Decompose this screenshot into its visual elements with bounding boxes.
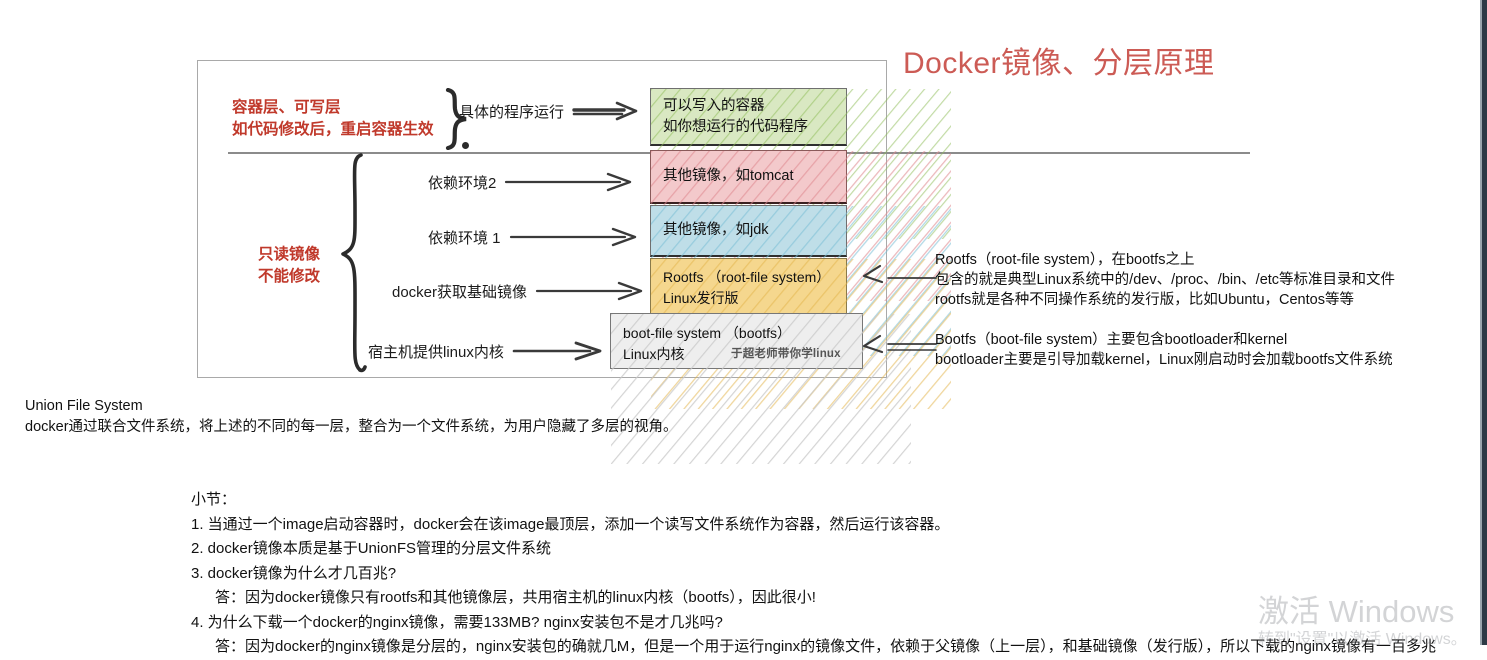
- arrow-row-dependency-2: 依赖环境2: [428, 171, 634, 193]
- annotation-rootfs-line1: Rootfs（root-file system），在bootfs之上: [935, 252, 1194, 268]
- annotation-rootfs-line3: rootfs就是各种不同操作系统的发行版，比如Ubuntu，Centos等等: [935, 292, 1354, 308]
- label-readonly-image: 只读镜像 不能修改: [258, 244, 320, 288]
- arrow-row-dependency-1: 依赖环境 1: [428, 226, 639, 248]
- label-container-layer: 容器层、可写层 如代码修改后，重启容器生效: [232, 97, 434, 141]
- union-file-system-body: docker通过联合文件系统，将上述的不同的每一层，整合为一个文件系统，为用户隐…: [25, 419, 678, 435]
- arrow-label-dependency-1: 依赖环境 1: [428, 227, 501, 248]
- annotation-bootfs: Bootfs（boot-file system）主要包含bootloader和k…: [935, 330, 1393, 370]
- arrow-icon: [572, 101, 640, 121]
- summary-item: 2. docker镜像本质是基于UnionFS管理的分层文件系统: [191, 537, 1436, 562]
- arrow-icon: [504, 172, 634, 192]
- annotation-bootfs-line2: bootloader主要是引导加载kernel，Linux刚启动时会加载boot…: [935, 352, 1393, 368]
- label-container-layer-line2: 如代码修改后，重启容器生效: [232, 121, 434, 138]
- summary-heading: 小节：: [191, 488, 1436, 513]
- layer-box-tomcat: 其他镜像，如tomcat: [650, 150, 847, 204]
- arrow-row-host-kernel: 宿主机提供linux内核: [368, 340, 604, 362]
- summary-answer: 答：因为docker的nginx镜像是分层的，nginx安装包的确就几M，但是一…: [191, 635, 1436, 660]
- arrow-icon: [512, 341, 604, 361]
- layer-rootfs-line1: Rootfs （root-file system）: [663, 269, 830, 285]
- layer-rootfs-line2: Linux发行版: [663, 288, 846, 309]
- layer-box-container: 可以写入的容器 如你想运行的代码程序: [650, 88, 847, 146]
- layer-box-rootfs: Rootfs （root-file system） Linux发行版: [650, 258, 847, 314]
- leader-arrow-bootfs-icon: [862, 330, 938, 358]
- layer-container-line1: 可以写入的容器: [663, 98, 765, 114]
- author-signature: 于超老师带你学linux: [731, 344, 841, 365]
- arrow-label-host-kernel: 宿主机提供linux内核: [368, 341, 504, 362]
- arrow-icon: [535, 281, 645, 301]
- leader-arrow-rootfs-icon: [862, 262, 938, 288]
- label-readonly-line2: 不能修改: [258, 268, 320, 285]
- arrow-label-program-run: 具体的程序运行: [459, 101, 564, 122]
- page-right-edge: [1482, 0, 1487, 645]
- page-right-edge-highlight: [1480, 0, 1482, 645]
- union-file-system-heading: Union File System: [25, 398, 143, 414]
- layer-box-jdk: 其他镜像，如jdk: [650, 205, 847, 257]
- summary-answer: 答：因为docker镜像只有rootfs和其他镜像层，共用宿主机的linux内核…: [191, 586, 1436, 611]
- arrow-label-base-image: docker获取基础镜像: [392, 281, 527, 302]
- summary-item: 4. 为什么下载一个docker的nginx镜像，需要133MB? nginx安…: [191, 611, 1436, 636]
- layer-tomcat-line1: 其他镜像，如tomcat: [663, 168, 794, 184]
- label-container-layer-line1: 容器层、可写层: [232, 99, 341, 116]
- annotation-rootfs-line2: 包含的就是典型Linux系统中的/dev、/proc、/bin、/etc等标准目…: [935, 272, 1395, 288]
- annotation-rootfs: Rootfs（root-file system），在bootfs之上 包含的就是…: [935, 250, 1395, 310]
- union-file-system-block: Union File System docker通过联合文件系统，将上述的不同的…: [25, 396, 678, 438]
- label-readonly-line1: 只读镜像: [258, 246, 320, 263]
- layer-jdk-line1: 其他镜像，如jdk: [663, 222, 769, 238]
- arrow-icon: [509, 227, 639, 247]
- layer-bootfs-line1: boot-file system （bootfs）: [623, 325, 791, 341]
- page-title: Docker镜像、分层原理: [903, 38, 1215, 82]
- summary-item: 3. docker镜像为什么才几百兆?: [191, 562, 1436, 587]
- summary-block: 小节： 1. 当通过一个image启动容器时，docker会在该image最顶层…: [191, 488, 1436, 660]
- arrow-row-program-run: 具体的程序运行: [459, 100, 640, 122]
- layer-box-bootfs: boot-file system （bootfs） Linux内核 于超老师带你…: [610, 313, 863, 369]
- arrow-row-base-image: docker获取基础镜像: [392, 280, 645, 302]
- layer-container-line2: 如你想运行的代码程序: [663, 117, 846, 138]
- summary-item: 1. 当通过一个image启动容器时，docker会在该image最顶层，添加一…: [191, 513, 1436, 538]
- arrow-label-dependency-2: 依赖环境2: [428, 172, 496, 193]
- annotation-bootfs-line1: Bootfs（boot-file system）主要包含bootloader和k…: [935, 332, 1287, 348]
